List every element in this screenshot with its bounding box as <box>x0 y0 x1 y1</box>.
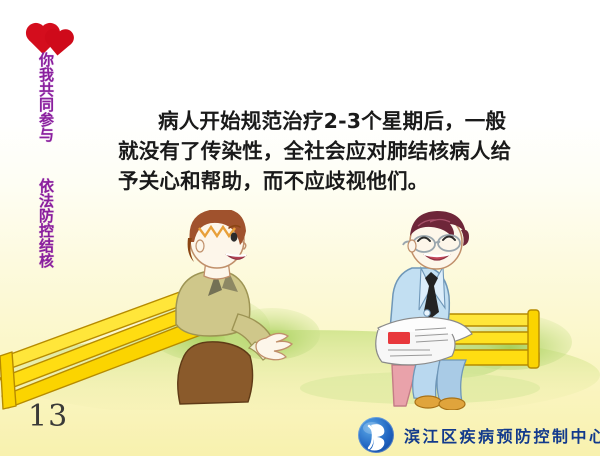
slide-canvas: 你我共同参与 依法防控结核 病人开始规范治疗2-3个星期后，一般就没有了传染性，… <box>0 0 600 456</box>
illustration-two-men-on-bench <box>0 210 600 410</box>
body-paragraph: 病人开始规范治疗2-3个星期后，一般就没有了传染性，全社会应对肺结核病人给予关心… <box>118 106 518 196</box>
footer-branding: 滨江区疾病预防控制中心 <box>358 417 600 453</box>
cdc-circular-logo-icon <box>358 417 394 453</box>
organization-name: 滨江区疾病预防控制中心 <box>404 423 600 447</box>
page-number: 13 <box>28 399 68 434</box>
double-heart-icon <box>33 18 85 54</box>
